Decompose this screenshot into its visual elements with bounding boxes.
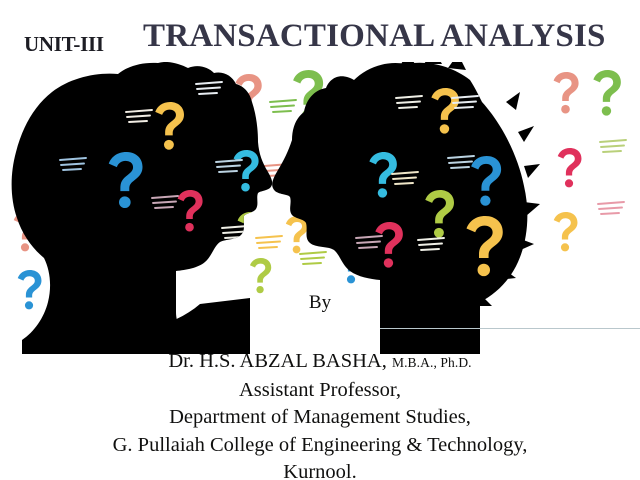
presentation-slide: UNIT-III TRANSACTIONAL ANALYSIS (0, 0, 640, 480)
title-row: UNIT-III TRANSACTIONAL ANALYSIS (0, 18, 640, 64)
author-degrees: M.B.A., Ph.D. (392, 355, 472, 370)
accent-rule (380, 328, 640, 329)
author-department: Department of Management Studies, (0, 404, 640, 432)
by-block: By (0, 290, 640, 316)
author-name-line: Dr. H.S. ABZAL BASHA, M.B.A., Ph.D. (0, 348, 640, 377)
author-designation: Assistant Professor, (0, 377, 640, 405)
page-title: TRANSACTIONAL ANALYSIS (143, 18, 606, 55)
by-label: By (0, 290, 640, 316)
author-name: Dr. H.S. ABZAL BASHA, (168, 350, 387, 372)
unit-label: UNIT-III (24, 32, 104, 57)
author-block: Dr. H.S. ABZAL BASHA, M.B.A., Ph.D. Assi… (0, 348, 640, 480)
author-institution: G. Pullaiah College of Engineering & Tec… (0, 432, 640, 460)
author-city: Kurnool. (0, 459, 640, 480)
